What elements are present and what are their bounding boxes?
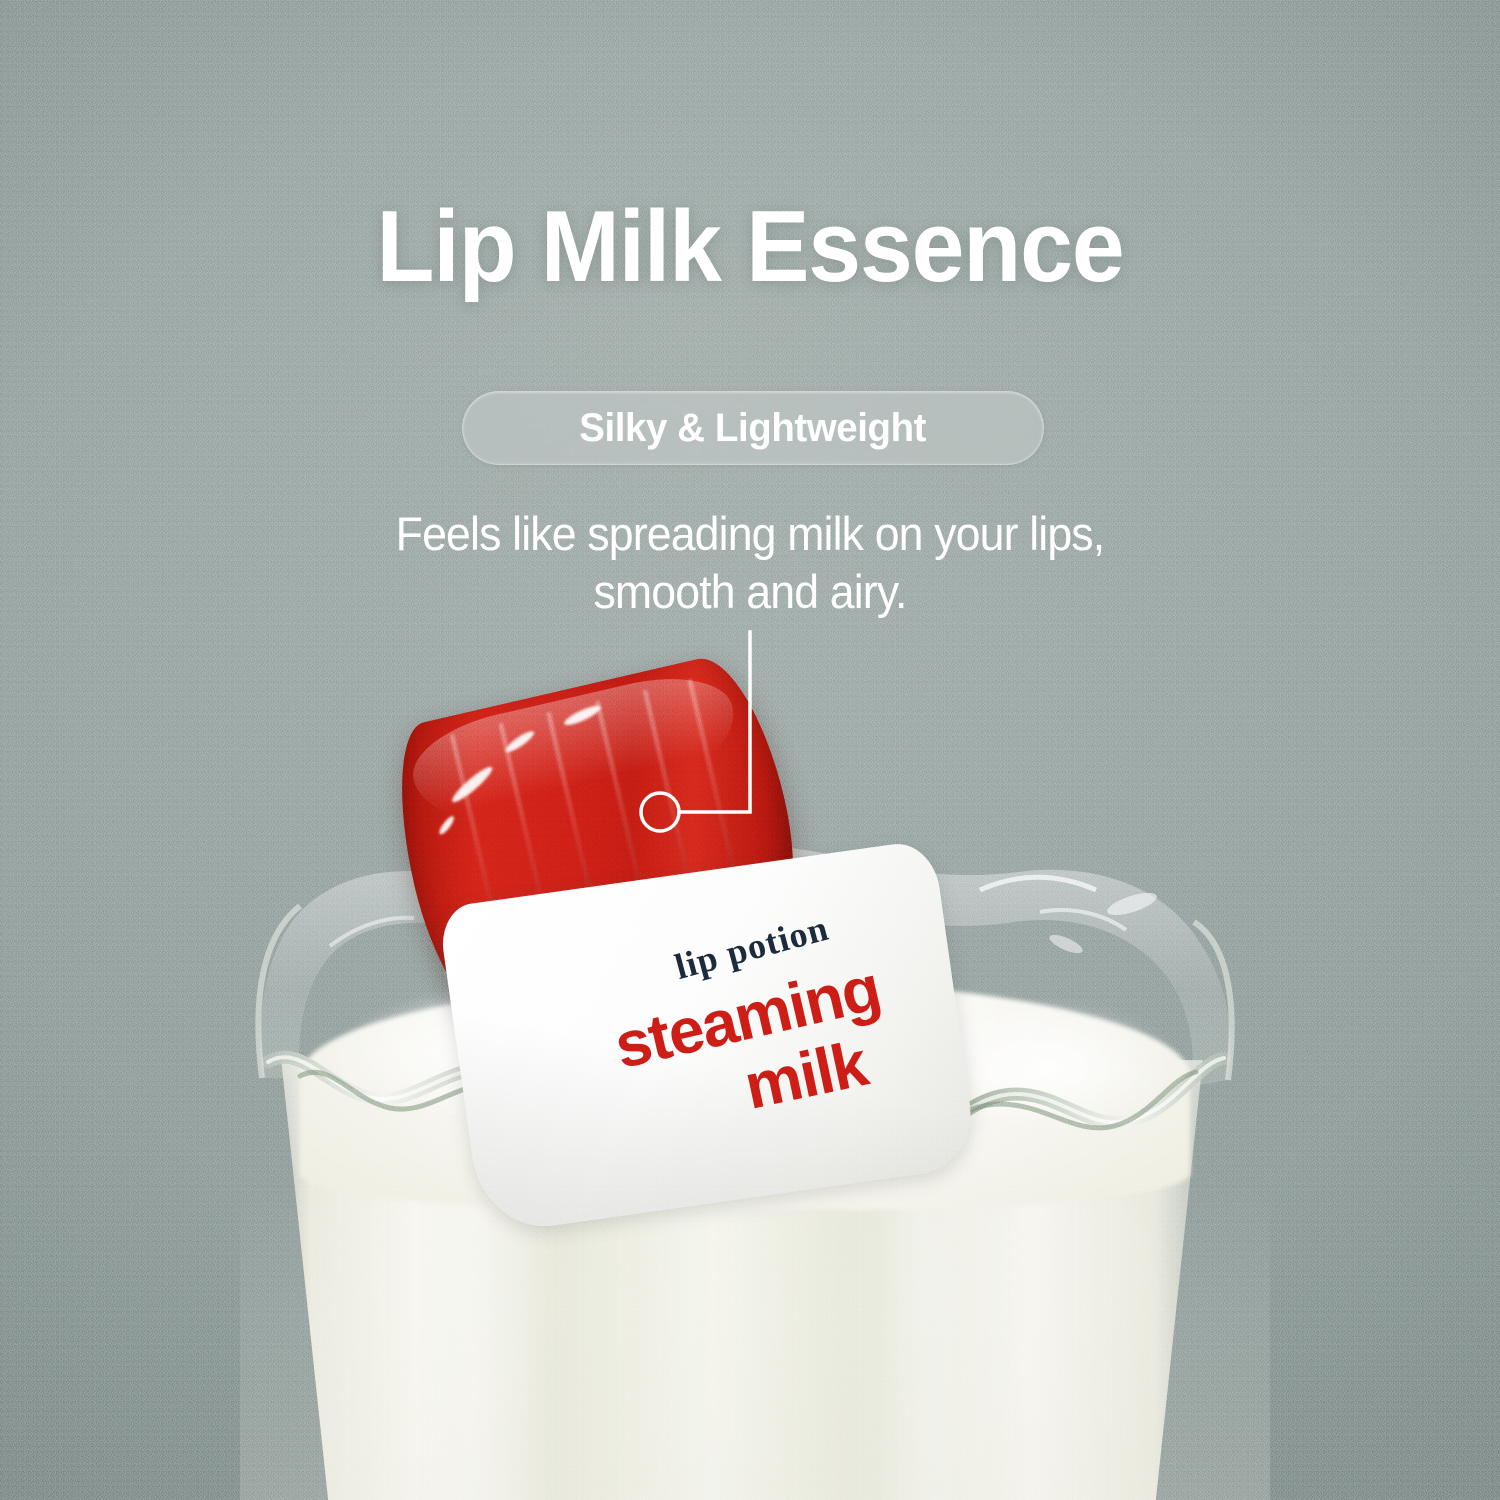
feature-badge-label: Silky & Lightweight: [580, 406, 927, 451]
feature-badge: Silky & Lightweight: [462, 391, 1044, 465]
subcopy-block: Feels like spreading milk on your lips, …: [275, 505, 1225, 621]
page-title: Lip Milk Essence: [45, 196, 1455, 299]
product-marketing-image: lip potion steaming milk Lip Milk Essenc…: [0, 0, 1500, 1500]
subcopy-line-1: Feels like spreading milk on your lips,: [275, 505, 1225, 563]
subcopy-line-2: smooth and airy.: [275, 563, 1225, 621]
